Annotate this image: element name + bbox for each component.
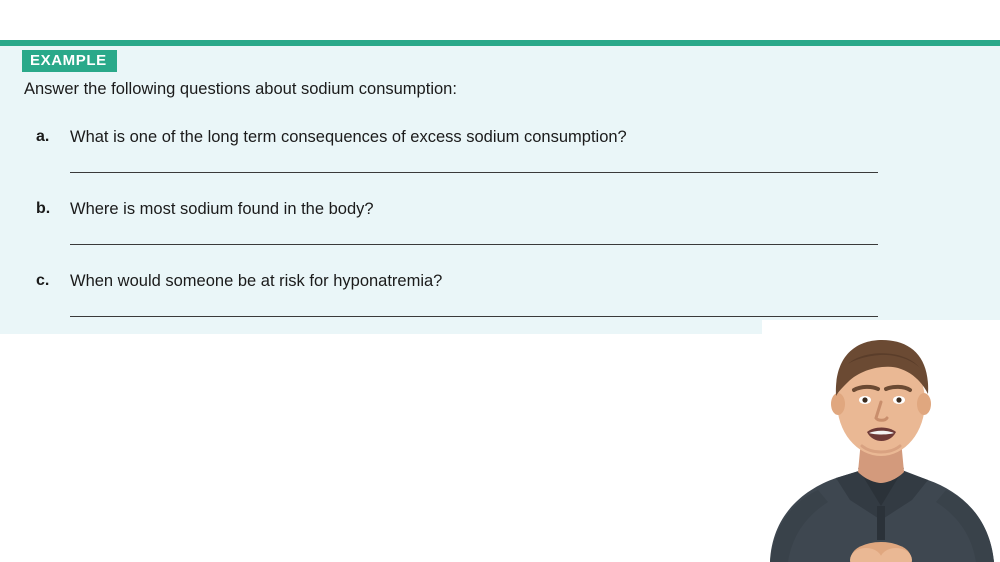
question-letter: c. [36, 272, 60, 290]
prompt-text: Answer the following questions about sod… [24, 80, 457, 99]
question-letter: a. [36, 128, 60, 146]
lesson-slide: EXAMPLE Answer the following questions a… [0, 0, 1000, 562]
example-badge: EXAMPLE [22, 50, 117, 72]
answer-line [70, 316, 878, 317]
question-text: When would someone be at risk for hypona… [70, 272, 442, 291]
presenter-video [762, 320, 1000, 562]
question-text: Where is most sodium found in the body? [70, 200, 374, 219]
answer-line [70, 244, 878, 245]
question-text: What is one of the long term consequence… [70, 128, 627, 147]
question-letter: b. [36, 200, 60, 218]
answer-line [70, 172, 878, 173]
